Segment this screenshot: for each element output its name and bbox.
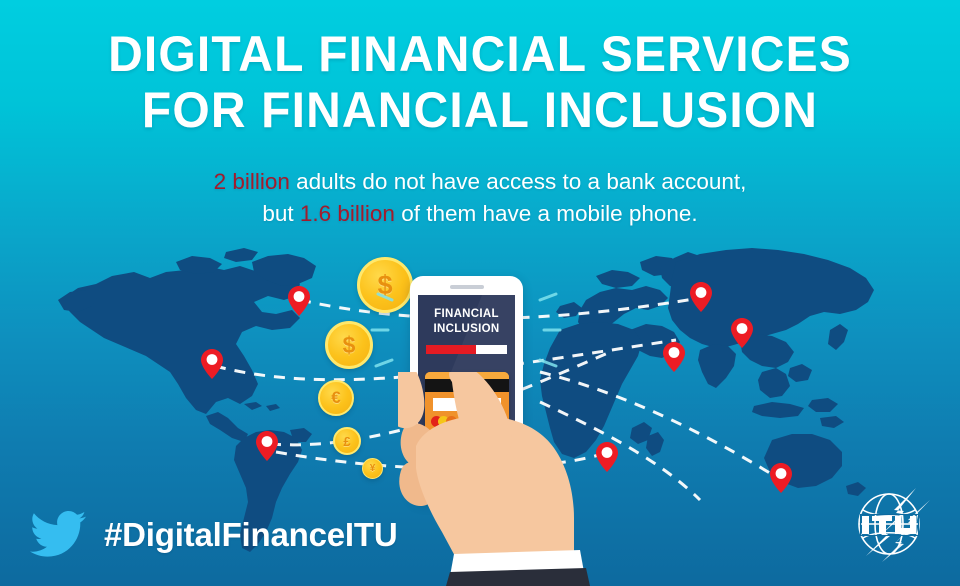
- twitter-icon[interactable]: [30, 511, 86, 558]
- pin-northern-europe[interactable]: [690, 282, 712, 312]
- app-title-line-2: INCLUSION: [434, 323, 500, 335]
- itu-logo: [846, 486, 932, 564]
- pin-central-asia[interactable]: [731, 318, 753, 348]
- pin-greenland[interactable]: [288, 286, 310, 316]
- phone-speaker: [450, 285, 484, 289]
- pin-north-america[interactable]: [201, 349, 223, 379]
- infographic-canvas: DIGITAL FINANCIAL SERVICES FOR FINANCIAL…: [0, 0, 960, 586]
- pin-africa[interactable]: [596, 442, 618, 472]
- progress-bar: [426, 345, 507, 354]
- hashtag-label: #DigitalFinanceITU: [104, 516, 397, 554]
- social-footer: #DigitalFinanceITU: [30, 511, 397, 558]
- app-title: FINANCIAL INCLUSION: [418, 307, 515, 336]
- progress-bar-fill: [426, 345, 476, 354]
- pin-eastern-europe[interactable]: [663, 342, 685, 372]
- app-title-line-1: FINANCIAL: [434, 308, 499, 320]
- pin-south-america[interactable]: [256, 431, 278, 461]
- hand-holding-phone: [398, 372, 628, 586]
- pin-australia[interactable]: [770, 463, 792, 493]
